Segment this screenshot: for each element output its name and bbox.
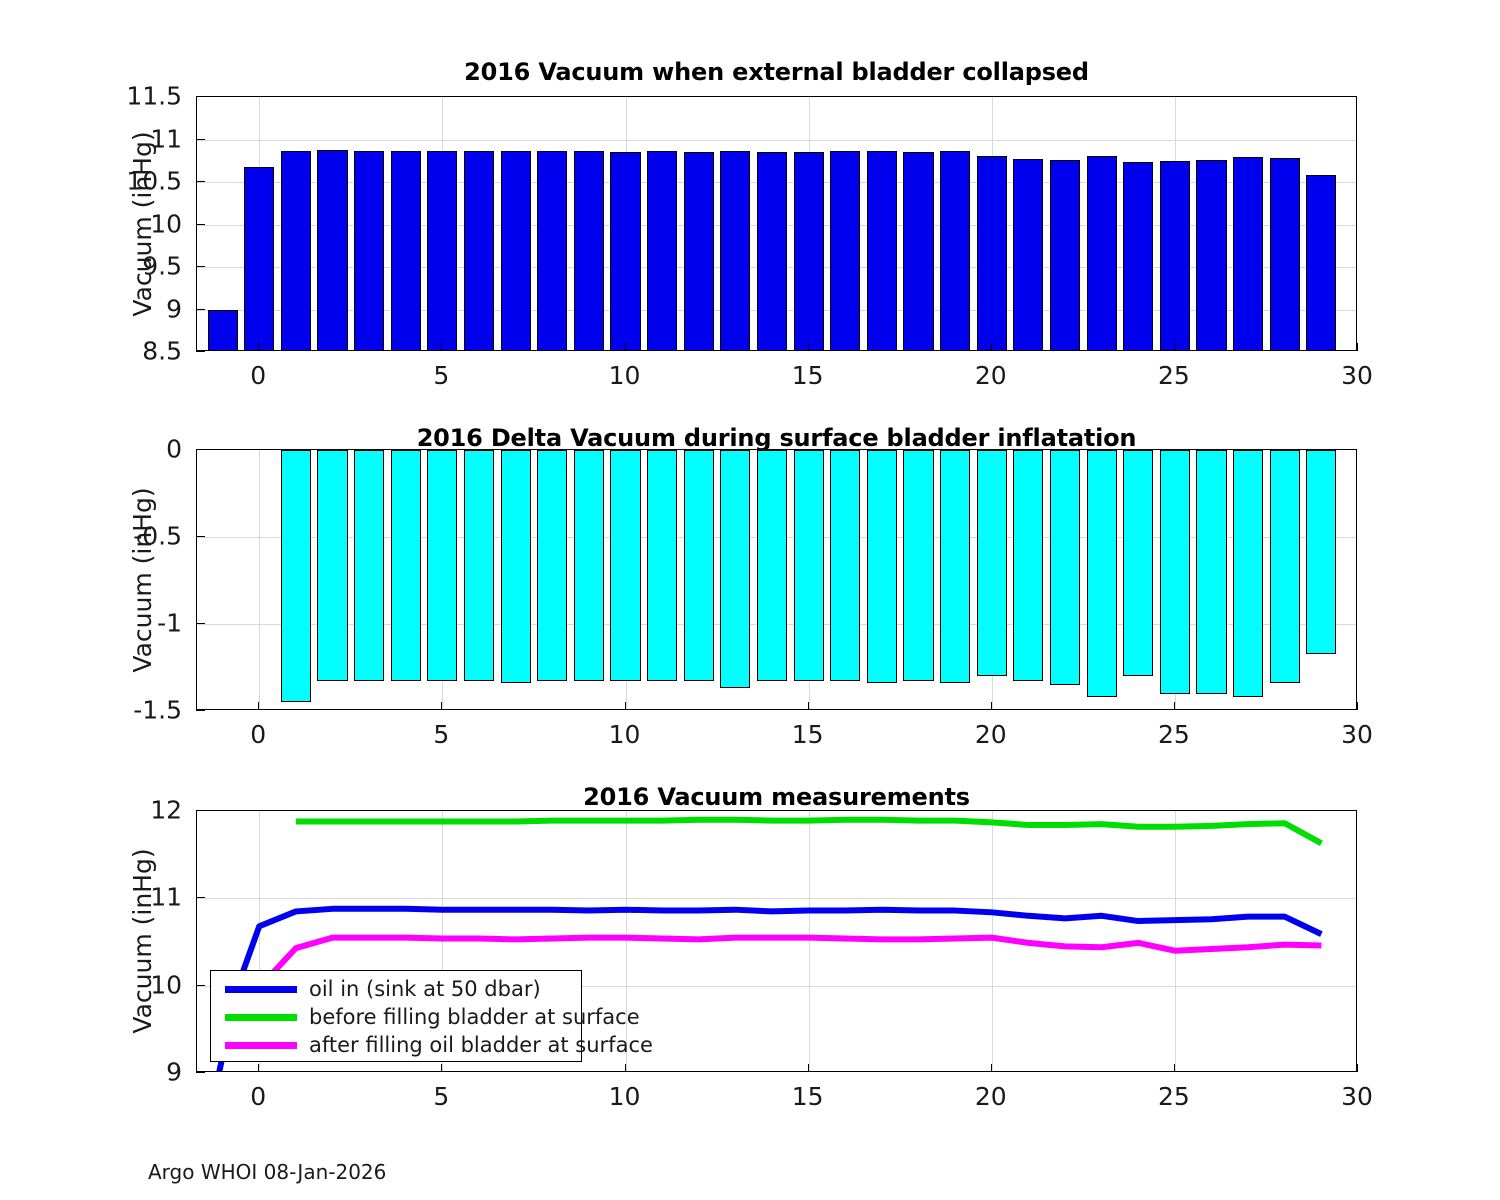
line-series [296, 820, 1321, 844]
y-tick [196, 1072, 205, 1073]
y-tick-label: 12 [0, 796, 182, 825]
footer-credit: Argo WHOI 08-Jan-2026 [148, 1160, 386, 1184]
x-tick-label: 15 [792, 1082, 824, 1111]
legend-color-swatch [225, 1042, 297, 1049]
chart-legend[interactable]: oil in (sink at 50 dbar)before filling b… [210, 970, 582, 1062]
legend-color-swatch [225, 1014, 297, 1021]
x-tick-label: 30 [1341, 1082, 1373, 1111]
x-tick [1174, 1064, 1175, 1072]
chart-title: 2016 Vacuum measurements [583, 783, 970, 811]
x-tick-label: 25 [1158, 1082, 1190, 1111]
legend-label: after filling oil bladder at surface [309, 1033, 653, 1057]
x-tick-label: 10 [609, 1082, 641, 1111]
x-tick-label: 5 [433, 1082, 449, 1111]
x-tick-label: 20 [975, 1082, 1007, 1111]
legend-item[interactable]: after filling oil bladder at surface [211, 1031, 581, 1059]
x-tick [441, 1064, 442, 1072]
x-tick-label: 0 [250, 1082, 266, 1111]
x-tick [808, 1064, 809, 1072]
y-tick-label: 10 [0, 970, 182, 999]
x-tick [1357, 1064, 1358, 1072]
x-tick [991, 1064, 992, 1072]
legend-label: oil in (sink at 50 dbar) [309, 977, 541, 1001]
x-tick [625, 1064, 626, 1072]
y-tick [196, 810, 205, 811]
legend-item[interactable]: oil in (sink at 50 dbar) [211, 975, 581, 1003]
legend-color-swatch [225, 986, 297, 993]
y-axis-label: Vacuum (inHg) [128, 848, 157, 1033]
y-tick [196, 897, 205, 898]
chart-panel-vacuum-measurements: 2016 Vacuum measurementsVacuum (inHg)051… [0, 0, 1500, 1200]
y-tick-label: 11 [0, 883, 182, 912]
legend-label: before filling bladder at surface [309, 1005, 640, 1029]
y-tick [196, 985, 205, 986]
y-tick-label: 9 [0, 1058, 182, 1087]
x-tick [258, 1064, 259, 1072]
legend-item[interactable]: before filling bladder at surface [211, 1003, 581, 1031]
